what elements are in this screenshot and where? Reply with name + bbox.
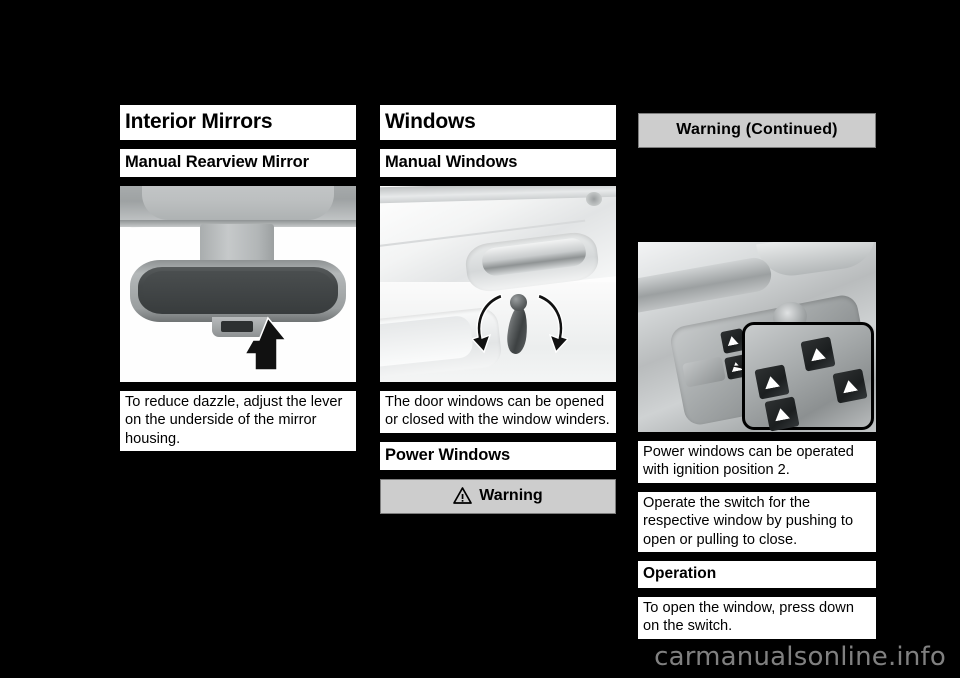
heading-operation: Operation <box>638 561 876 588</box>
arrow-up-icon <box>242 316 288 372</box>
crank-body <box>506 305 530 355</box>
heading-manual-rearview-mirror: Manual Rearview Mirror <box>120 149 356 177</box>
body-text-open-window: To open the window, press down on the sw… <box>638 597 876 639</box>
column-windows: Windows Manual Windows <box>380 105 616 523</box>
figure-rearview-mirror <box>120 186 356 382</box>
page-title-interior-mirrors: Interior Mirrors <box>120 105 356 140</box>
callout-switch-rear-left[interactable] <box>764 396 799 431</box>
figure-door-window-winder <box>380 186 616 382</box>
warning-continued-label: Warning (Continued) <box>676 121 837 139</box>
callout-switch-front-left[interactable] <box>754 364 789 399</box>
mirror-stem <box>200 224 274 264</box>
body-text-operate-switch: Operate the switch for the respective wi… <box>638 492 876 552</box>
warning-box: Warning <box>380 479 616 514</box>
figure-power-window-switches <box>638 242 876 432</box>
column-power-windows: Warning (Continued) <box>638 113 876 648</box>
headliner-inner <box>142 186 334 220</box>
page-title-windows: Windows <box>380 105 616 140</box>
heading-manual-windows: Manual Windows <box>380 149 616 177</box>
body-text-mirror-adjust: To reduce dazzle, adjust the lever on th… <box>120 391 356 451</box>
arrow-rotate-right-icon <box>532 294 568 354</box>
mirror-glass <box>138 267 338 314</box>
warning-label: Warning <box>479 487 542 505</box>
heading-power-windows: Power Windows <box>380 442 616 470</box>
body-text-manual-windows: The door windows can be opened or closed… <box>380 391 616 433</box>
column-interior-mirrors: Interior Mirrors Manual Rearview Mirror … <box>120 105 356 460</box>
body-text-ignition-position: Power windows can be operated with ignit… <box>638 441 876 483</box>
window-winder-crank <box>502 292 530 354</box>
warning-triangle-icon <box>453 487 472 504</box>
manual-page: Interior Mirrors Manual Rearview Mirror … <box>0 0 960 678</box>
crank-knob <box>510 294 527 311</box>
mirror-housing <box>130 260 346 322</box>
callout-switch-rear-right[interactable] <box>832 368 867 403</box>
warning-body-spacer <box>638 157 876 242</box>
watermark-carmanualsonline: carmanualsonline.info <box>0 642 946 672</box>
door-tweeter-icon <box>586 192 602 206</box>
callout-switch-front-right[interactable] <box>800 336 835 371</box>
warning-continued-box: Warning (Continued) <box>638 113 876 148</box>
callout-magnified-switches <box>742 322 874 430</box>
